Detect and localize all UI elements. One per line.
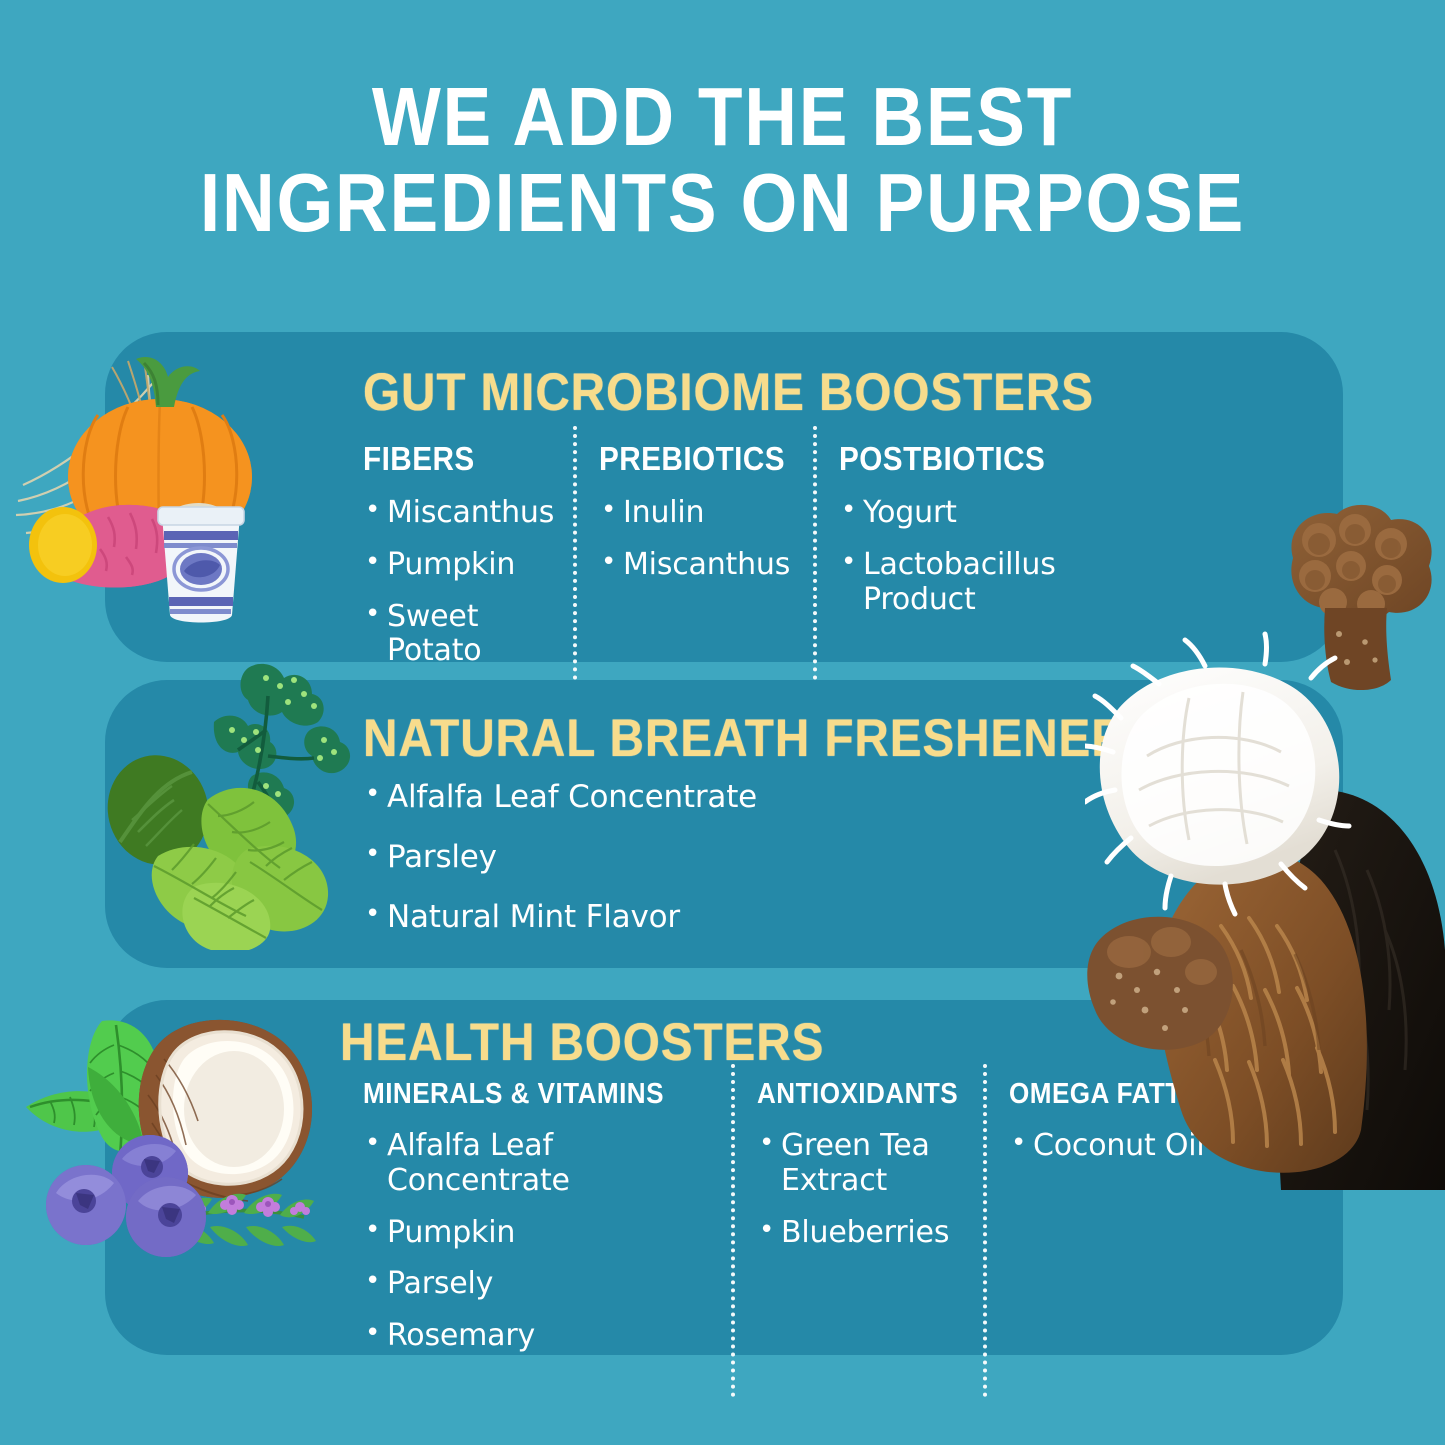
list-item: Rosemary [363,1319,713,1354]
column-title: ANTIOXIDANTS [757,1078,944,1111]
ingredient-list: Alfalfa Leaf Concentrate Parsley Natural… [363,780,757,960]
ingredient-list: Inulin Miscanthus [599,496,795,583]
list-item: Pumpkin [363,1216,713,1251]
ingredient-list: Green Tea Extract Blueberries [757,1129,965,1250]
list-item: Green Tea Extract [757,1129,965,1199]
infographic-root: WE ADD THE BEST INGREDIENTS ON PURPOSE G… [0,0,1445,1445]
card-gut-microbiome-boosters: GUT MICROBIOME BOOSTERS FIBERS Miscanthu… [105,332,1343,662]
card-health-boosters: HEALTH BOOSTERS MINERALS & VITAMINS Alfa… [105,1000,1343,1355]
list-item: Yogurt [839,496,1095,531]
column-title: OMEGA FATTY ACIDS [1009,1078,1257,1111]
list-item: Sweet Potato [363,600,555,670]
list-item: Parsley [363,840,757,876]
card-heading: GUT MICROBIOME BOOSTERS [363,362,1094,423]
list-item: Miscanthus [599,548,795,583]
ingredient-list: Yogurt Lactobacillus Product [839,496,1095,617]
list-item: Parsely [363,1267,713,1302]
list-item: Coconut Oil [1009,1129,1285,1164]
list-item: Natural Mint Flavor [363,900,757,936]
card-heading: HEALTH BOOSTERS [340,1012,824,1073]
ingredient-list: Miscanthus Pumpkin Sweet Potato [363,496,555,669]
list-item: Lactobacillus Product [839,548,1095,618]
page-title-line-2: INGREDIENTS ON PURPOSE [87,164,1359,242]
card-columns: MINERALS & VITAMINS Alfalfa Leaf Concent… [363,1078,1323,1371]
ingredient-list: Alfalfa Leaf Concentrate Pumpkin Parsely… [363,1129,713,1354]
column-omega-fatty-acids: OMEGA FATTY ACIDS Coconut Oil [983,1078,1303,1371]
list-item: Alfalfa Leaf Concentrate [363,780,757,816]
column-title: FIBERS [363,440,536,478]
page-title-line-1: WE ADD THE BEST [87,78,1359,156]
list-item: Miscanthus [363,496,555,531]
column-minerals-vitamins: MINERALS & VITAMINS Alfalfa Leaf Concent… [363,1078,731,1371]
column-prebiotics: PREBIOTICS Inulin Miscanthus [573,440,813,686]
list-item: Blueberries [757,1216,965,1251]
column-title: POSTBIOTICS [839,440,1069,478]
ingredient-list: Coconut Oil [1009,1129,1285,1164]
column-fibers: FIBERS Miscanthus Pumpkin Sweet Potato [363,440,573,686]
column-title: PREBIOTICS [599,440,775,478]
card-heading: NATURAL BREATH FRESHENERS [363,708,1159,769]
card-columns: FIBERS Miscanthus Pumpkin Sweet Potato P… [363,440,1303,686]
column-title: MINERALS & VITAMINS [363,1078,678,1111]
column-antioxidants: ANTIOXIDANTS Green Tea Extract Blueberri… [731,1078,983,1371]
list-item: Pumpkin [363,548,555,583]
column-postbiotics: POSTBIOTICS Yogurt Lactobacillus Product [813,440,1113,686]
list-item: Inulin [599,496,795,531]
card-natural-breath-fresheners: NATURAL BREATH FRESHENERS Alfalfa Leaf C… [105,680,1343,968]
list-item: Alfalfa Leaf Concentrate [363,1129,713,1199]
page-title: WE ADD THE BEST INGREDIENTS ON PURPOSE [0,78,1445,242]
